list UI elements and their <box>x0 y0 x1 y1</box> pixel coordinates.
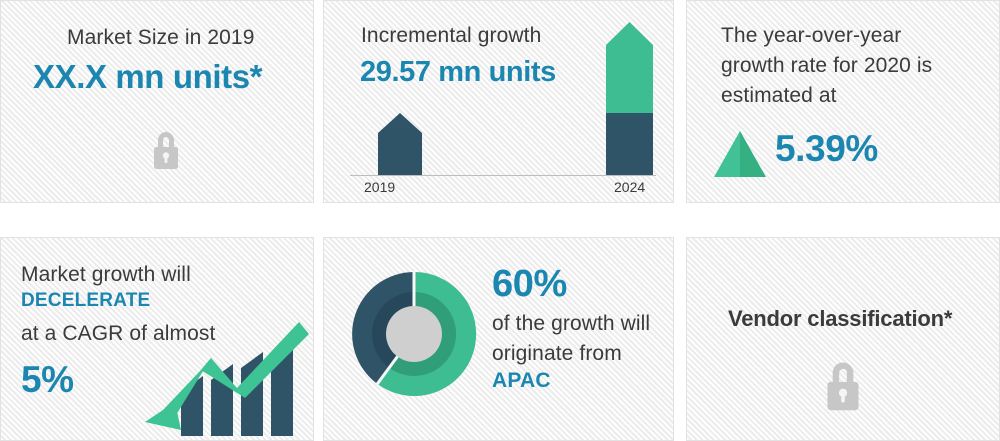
bar-2024-growth <box>606 22 653 113</box>
cagr-line-1: Market growth will <box>21 260 191 290</box>
yoy-growth-line-2: growth rate for 2020 is <box>721 51 987 81</box>
incremental-growth-title: Incremental growth <box>361 21 541 51</box>
yoy-growth-value: 5.39% <box>775 128 878 170</box>
yoy-growth-line-1: The year-over-year <box>721 21 987 51</box>
panel-market-size: Market Size in 2019 XX.X mn units* <box>0 0 314 203</box>
lock-icon <box>146 127 186 175</box>
yoy-growth-line-3: estimated at <box>721 81 987 111</box>
panel-cagr: Market growth will DECELERATE at a CAGR … <box>0 237 314 441</box>
x-label-2024: 2024 <box>614 179 645 195</box>
panel-yoy-growth: The year-over-year growth rate for 2020 … <box>686 0 1000 203</box>
market-size-title: Market Size in 2019 <box>67 23 255 53</box>
panel-incremental-growth: 2019 2024 Incremental growth 29.57 mn un… <box>323 0 674 203</box>
panel-apac-share: 60% of the growth will originate from AP… <box>323 237 674 441</box>
apac-share-donut-chart <box>348 268 480 400</box>
yoy-growth-text: The year-over-year growth rate for 2020 … <box>721 21 987 110</box>
incremental-growth-value: 29.57 mn units <box>360 56 556 89</box>
up-triangle-icon <box>712 129 768 179</box>
vendor-classification-title: Vendor classification* <box>728 306 952 332</box>
x-label-2019: 2019 <box>364 179 395 195</box>
market-size-value: XX.X mn units* <box>33 58 262 96</box>
cagr-value: 5% <box>21 359 74 401</box>
declining-arrow-bars-icon <box>137 318 309 436</box>
apac-share-line-1: of the growth will <box>492 309 650 339</box>
donut-hub <box>386 306 442 362</box>
cagr-emphasis: DECELERATE <box>21 290 150 312</box>
apac-share-line-2: originate from <box>492 339 622 369</box>
chart-baseline <box>350 175 656 176</box>
bar-2024-base <box>606 113 653 175</box>
lock-icon <box>815 356 871 418</box>
panel-vendor-classification: Vendor classification* <box>686 237 1000 441</box>
apac-share-value: 60% <box>492 263 567 306</box>
bar-2019 <box>378 113 422 175</box>
infographic-board: Market Size in 2019 XX.X mn units* 2019 … <box>0 0 1000 441</box>
apac-share-region: APAC <box>492 369 551 393</box>
